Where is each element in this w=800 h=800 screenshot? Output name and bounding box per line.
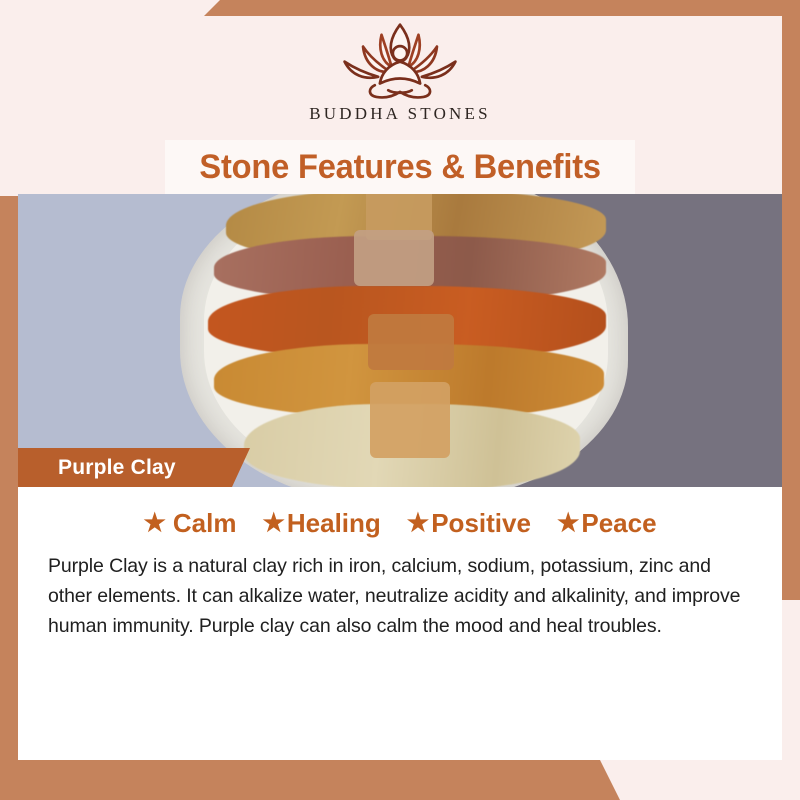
star-icon: ★ [262,511,284,536]
star-icon: ★ [143,511,165,536]
benefit-item-positive: ★ Positive [407,508,531,539]
page-title: Stone Features & Benefits [199,148,600,187]
star-icon: ★ [557,511,579,536]
product-description: Purple Clay is a natural clay rich in ir… [48,551,752,641]
benefits-row: ★ Calm ★ Healing ★ Positive ★ Peace [34,487,766,543]
frame-bottom-accent [0,760,800,800]
title-banner: Stone Features & Benefits [165,140,635,194]
brand-name: BUDDHA STONES [309,104,491,124]
frame-left-accent [0,196,18,776]
benefit-label: Calm [173,508,237,539]
benefit-item-peace: ★ Peace [557,508,657,539]
benefit-item-healing: ★ Healing [262,508,380,539]
powder-swatch-lower [370,382,450,458]
product-tag-label: Purple Clay [58,456,176,480]
clay-powder-sample-photo [18,194,782,487]
benefit-label: Healing [287,508,381,539]
benefit-label: Positive [431,508,531,539]
benefit-item-calm: ★ Calm [143,508,236,539]
star-icon: ★ [407,511,429,536]
product-tag: Purple Clay [18,448,250,487]
poster-canvas: BUDDHA STONES Stone Features & Benefits … [0,0,800,800]
benefit-label: Peace [581,508,656,539]
frame-top-accent [0,0,800,16]
powder-swatch-upper [354,230,434,286]
lotus-meditation-icon [316,18,484,102]
powder-swatch-middle [368,314,454,370]
photo-left-gradient [18,194,188,487]
brand-logo: BUDDHA STONES [0,18,800,140]
content-panel: ★ Calm ★ Healing ★ Positive ★ Peace Purp… [18,487,782,760]
